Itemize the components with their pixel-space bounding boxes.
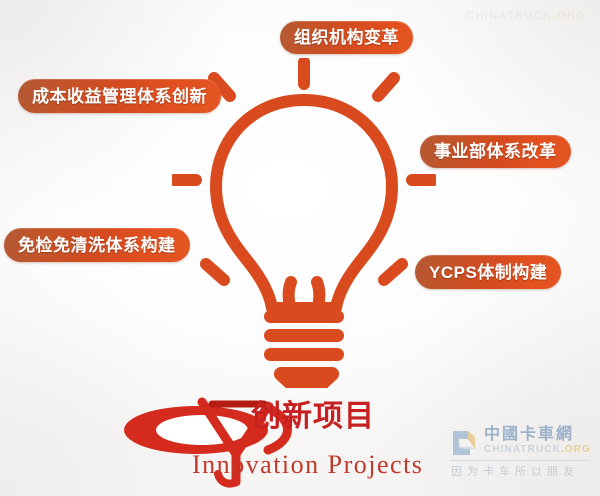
watermark-slogan: 因为卡车所以朋友 <box>451 466 579 477</box>
watermark-english-name: CHINATRUCK.ORG <box>484 445 591 455</box>
label-pill-division[interactable]: 事业部体系改革 <box>420 135 571 168</box>
watermark-english-main: CHINATRUCK <box>484 444 561 455</box>
label-pill-organization-text: 组织机构变革 <box>294 29 399 46</box>
watermark-top-org: .ORG <box>553 10 587 22</box>
label-pill-inspection-text: 免检免清洗体系构建 <box>18 237 176 254</box>
label-pill-organization[interactable]: 组织机构变革 <box>280 21 413 54</box>
watermark-english-org: .ORG <box>561 444 591 455</box>
logo-english-title: Innovation Projects <box>192 452 423 478</box>
chinatruck-watermark: 中國卡車網 CHINATRUCK.ORG 因为卡车所以朋友 <box>448 424 594 486</box>
logo-lockup: 创新项目 Innovation Projects <box>118 396 438 488</box>
watermark-top-main: CHINATRUCK <box>466 10 553 22</box>
watermark-divider <box>450 460 590 461</box>
label-pill-ycps-text: YCPS体制构建 <box>429 264 547 281</box>
logo-chinese-title: 创新项目 <box>251 402 375 432</box>
label-pill-division-text: 事业部体系改革 <box>434 143 557 160</box>
label-pill-inspection[interactable]: 免检免清洗体系构建 <box>4 228 190 262</box>
label-pill-cost[interactable]: 成本收益管理体系创新 <box>18 79 221 113</box>
chinatruck-logo-icon <box>450 428 478 458</box>
chinatruck-watermark-top: CHINATRUCK.ORG <box>466 10 586 22</box>
watermark-chinese-name: 中國卡車網 <box>484 426 574 442</box>
label-pill-cost-text: 成本收益管理体系创新 <box>32 88 207 105</box>
poster-canvas: 成本收益管理体系创新 组织机构变革 事业部体系改革 免检免清洗体系构建 YCPS… <box>0 0 600 496</box>
label-pill-ycps[interactable]: YCPS体制构建 <box>415 255 561 289</box>
